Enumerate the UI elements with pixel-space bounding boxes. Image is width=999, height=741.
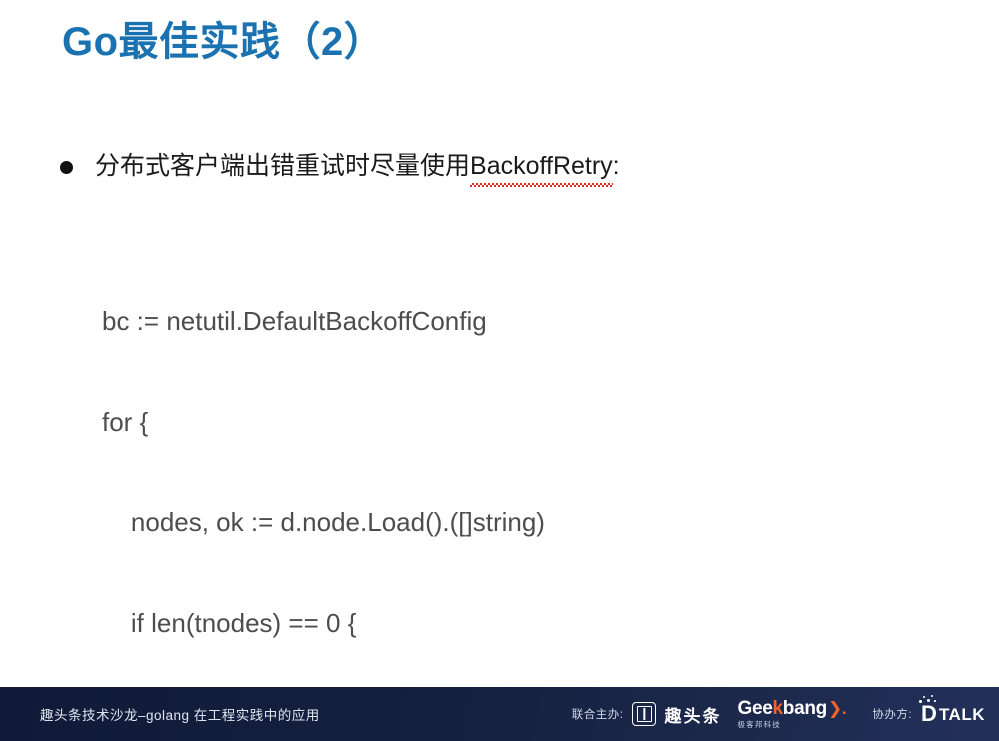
geekbang-part-k: k bbox=[773, 699, 783, 718]
dtalk-logo-icon: D TALK bbox=[921, 703, 985, 725]
code-line: nodes, ok := d.node.Load().([]string) bbox=[102, 506, 545, 540]
cohost-label: 联合主办: bbox=[572, 706, 624, 722]
qutoutiao-name: 趣头条 bbox=[664, 702, 721, 727]
dtalk-sparks-icon bbox=[919, 694, 937, 705]
geekbang-wordmark: Geekbang❯. bbox=[737, 699, 846, 718]
geekbang-part1: Gee bbox=[737, 699, 772, 718]
footer-event-title: 趣头条技术沙龙–golang 在工程实践中的应用 bbox=[40, 704, 320, 724]
bullet-item: 分布式客户端出错重试时尽量使用BackoffRetry: bbox=[60, 150, 620, 185]
spellcheck-term: BackoffRetry bbox=[470, 150, 613, 185]
code-line: if len(tnodes) == 0 { bbox=[102, 607, 545, 641]
bullet-dot-icon bbox=[60, 161, 73, 174]
footer-bar: 趣头条技术沙龙–golang 在工程实践中的应用 联合主办: 趣头条 Geekb… bbox=[0, 687, 999, 741]
sponsor-label: 协办方: bbox=[872, 706, 912, 722]
dtalk-mark: D bbox=[921, 703, 937, 725]
code-block: bc := netutil.DefaultBackoffConfig for {… bbox=[102, 238, 545, 741]
geekbang-subtitle: 极客邦科技 bbox=[737, 721, 781, 729]
code-line: bc := netutil.DefaultBackoffConfig bbox=[102, 305, 545, 339]
footer-sponsors: 联合主办: 趣头条 Geekbang❯. 极客邦科技 协办方: D TALK bbox=[572, 699, 985, 729]
bullet-text-before: 分布式客户端出错重试时尽量使用 bbox=[95, 152, 470, 180]
bullet-text-after: : bbox=[613, 152, 620, 180]
geekbang-arrow-icon: ❯. bbox=[828, 700, 846, 717]
code-line: for { bbox=[102, 406, 545, 440]
bullet-item-label: 分布式客户端出错重试时尽量使用BackoffRetry: bbox=[95, 150, 620, 185]
slide-canvas: Go最佳实践（2） 分布式客户端出错重试时尽量使用BackoffRetry: b… bbox=[0, 0, 999, 741]
qutoutiao-logo-icon bbox=[632, 702, 656, 726]
geekbang-logo-icon: Geekbang❯. 极客邦科技 bbox=[737, 699, 846, 729]
geekbang-part2: bang bbox=[783, 699, 827, 718]
dtalk-word: TALK bbox=[939, 706, 985, 723]
page-title: Go最佳实践（2） bbox=[62, 18, 384, 66]
